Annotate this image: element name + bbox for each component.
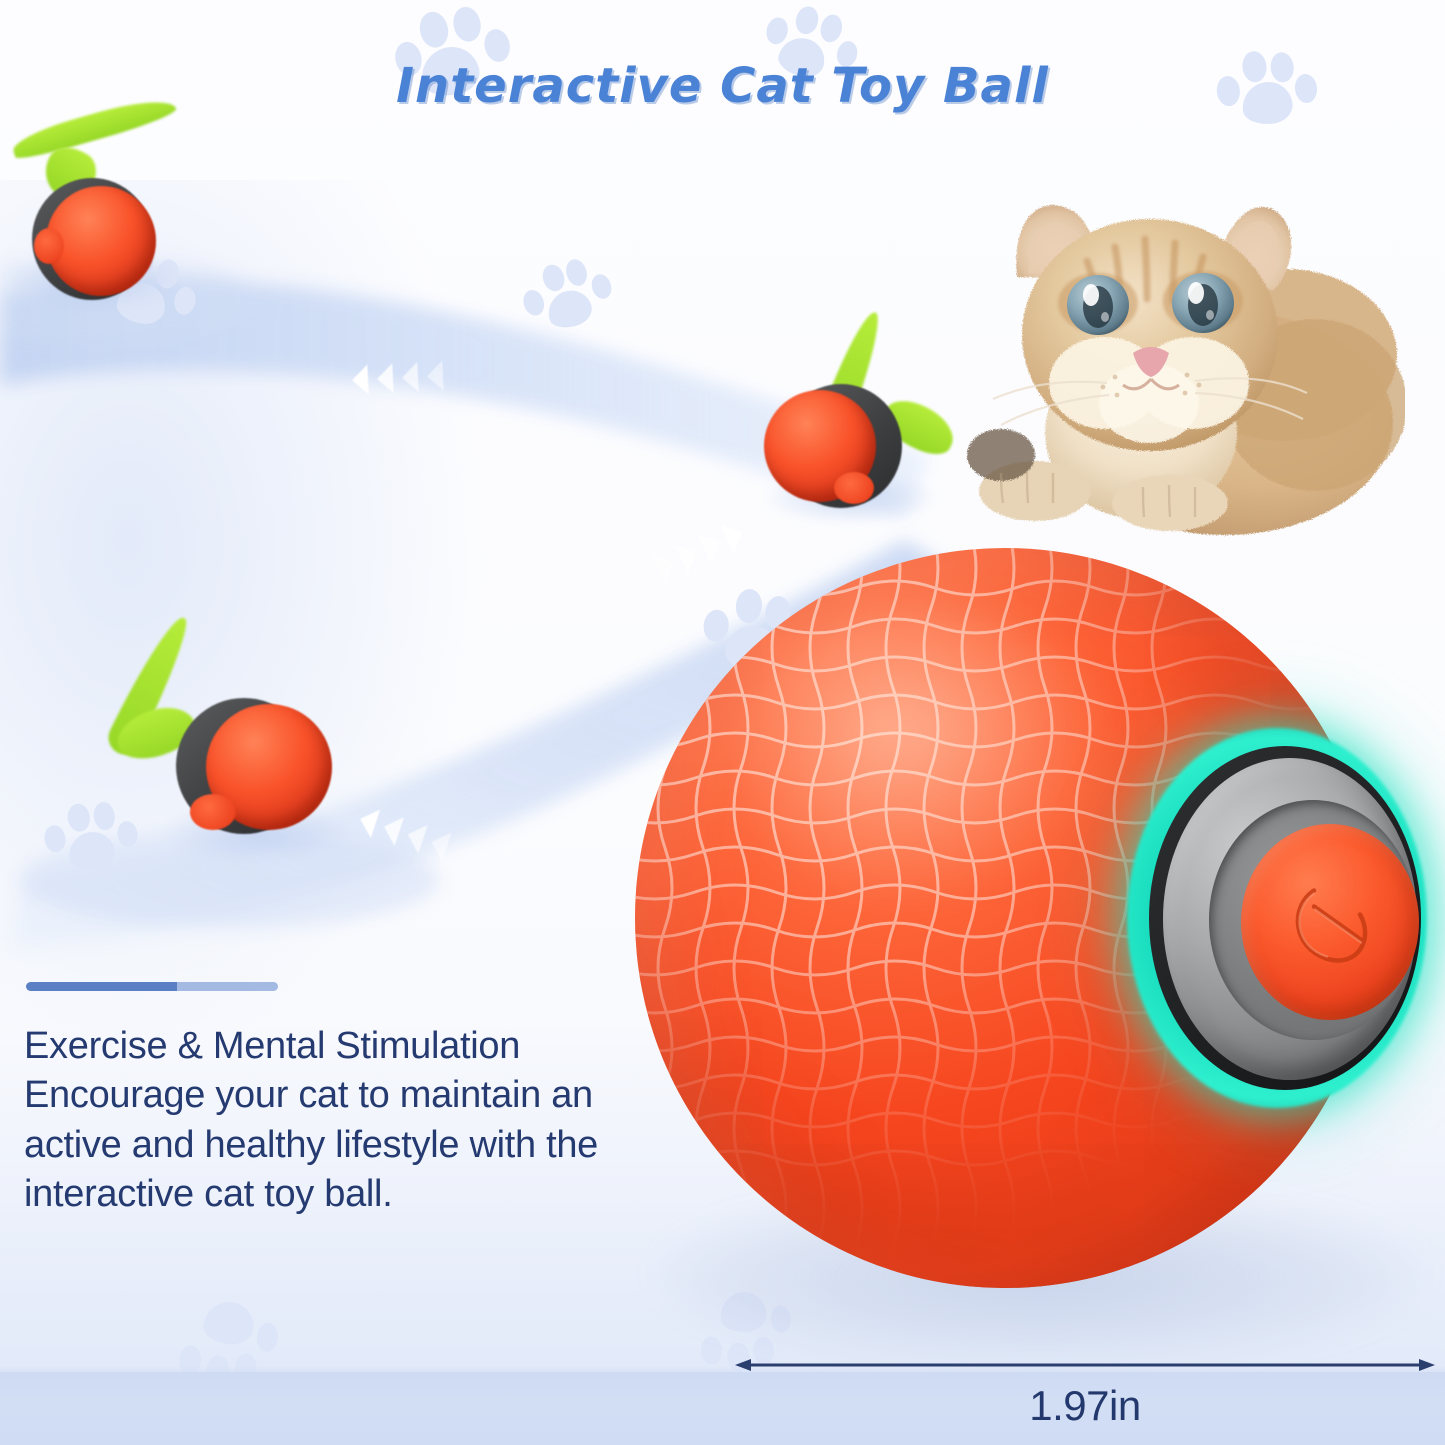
chevron-left-icon — [351, 365, 369, 396]
mini-ball-middle-right — [740, 300, 990, 540]
dimension-arrow — [735, 1355, 1435, 1375]
mini-ball-button — [34, 228, 64, 264]
feature-body-line: Encourage your cat to maintain an — [24, 1071, 684, 1120]
feature-body-line: interactive cat toy ball. — [24, 1170, 684, 1219]
divider-bar — [26, 982, 278, 991]
dimension-label: 1.97in — [735, 1382, 1435, 1430]
product-side-disc — [1127, 728, 1427, 1108]
chevron-left-icon — [403, 820, 427, 853]
page-title: Interactive Cat Toy Ball — [0, 58, 1445, 114]
product-ball — [635, 548, 1375, 1288]
mini-ball-top-left — [0, 100, 240, 330]
feature-copy: Exercise & Mental Stimulation Encourage … — [24, 1022, 684, 1220]
chevron-group-upper — [351, 361, 443, 396]
ball-highlight — [739, 607, 1124, 903]
chevron-left-icon — [401, 362, 419, 393]
mini-ball-button — [190, 794, 236, 830]
divider-segment-dark — [26, 982, 177, 991]
kitten-photo — [955, 155, 1405, 545]
power-icon — [1284, 867, 1376, 978]
divider-segment-light — [177, 982, 278, 991]
mini-ball-lower-left — [110, 600, 380, 870]
power-button[interactable] — [1241, 824, 1419, 1020]
feature-heading: Exercise & Mental Stimulation — [24, 1022, 684, 1071]
product-marketing-image: Interactive Cat Toy Ball Exercise & Ment… — [0, 0, 1445, 1445]
mini-ball-button — [834, 472, 874, 504]
chevron-left-icon — [379, 812, 403, 845]
chevron-left-icon — [376, 363, 394, 394]
chevron-left-icon — [426, 361, 444, 392]
feature-body-line: active and healthy lifestyle with the — [24, 1121, 684, 1170]
